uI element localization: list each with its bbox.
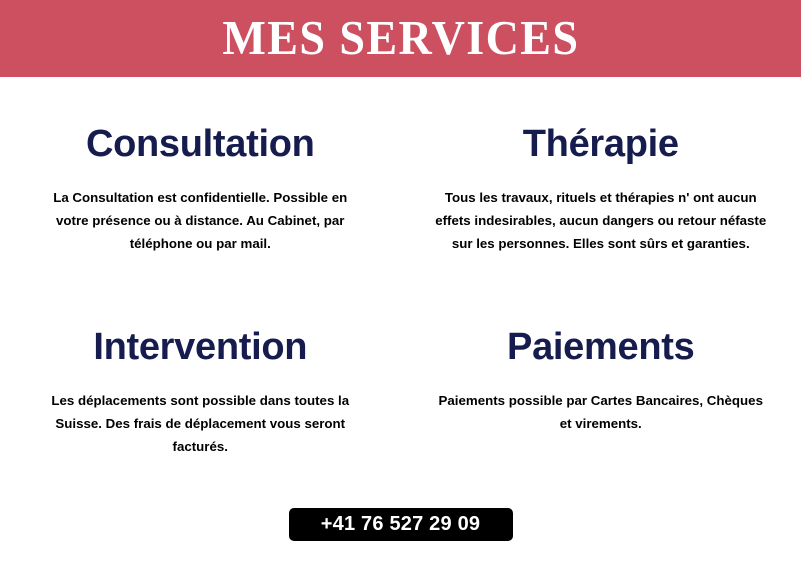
page-title: MES SERVICES [222,13,579,64]
service-title-paiements: Paiements [409,328,794,368]
service-title-consultation: Consultation [8,125,393,165]
services-row-top: Consultation La Consultation est confide… [0,77,801,255]
service-body-intervention: Les déplacements sont possible dans tout… [30,390,370,459]
phone-call-button[interactable]: +41 76 527 29 09 [289,508,513,541]
service-card-consultation: Consultation La Consultation est confide… [0,77,401,255]
service-card-intervention: Intervention Les déplacements sont possi… [0,255,401,458]
service-body-paiements: Paiements possible par Cartes Bancaires,… [436,390,766,436]
service-body-therapie: Tous les travaux, rituels et thérapies n… [426,187,776,256]
page-header-banner: MES SERVICES [0,0,801,77]
services-row-bottom: Intervention Les déplacements sont possi… [0,255,801,458]
services-grid: Consultation La Consultation est confide… [0,77,801,459]
service-body-consultation: La Consultation est confidentielle. Poss… [50,187,350,256]
service-title-therapie: Thérapie [409,125,794,165]
service-card-therapie: Thérapie Tous les travaux, rituels et th… [401,77,801,255]
service-title-intervention: Intervention [8,328,393,368]
service-card-paiements: Paiements Paiements possible par Cartes … [401,255,801,458]
phone-button-container: +41 76 527 29 09 [0,508,801,541]
